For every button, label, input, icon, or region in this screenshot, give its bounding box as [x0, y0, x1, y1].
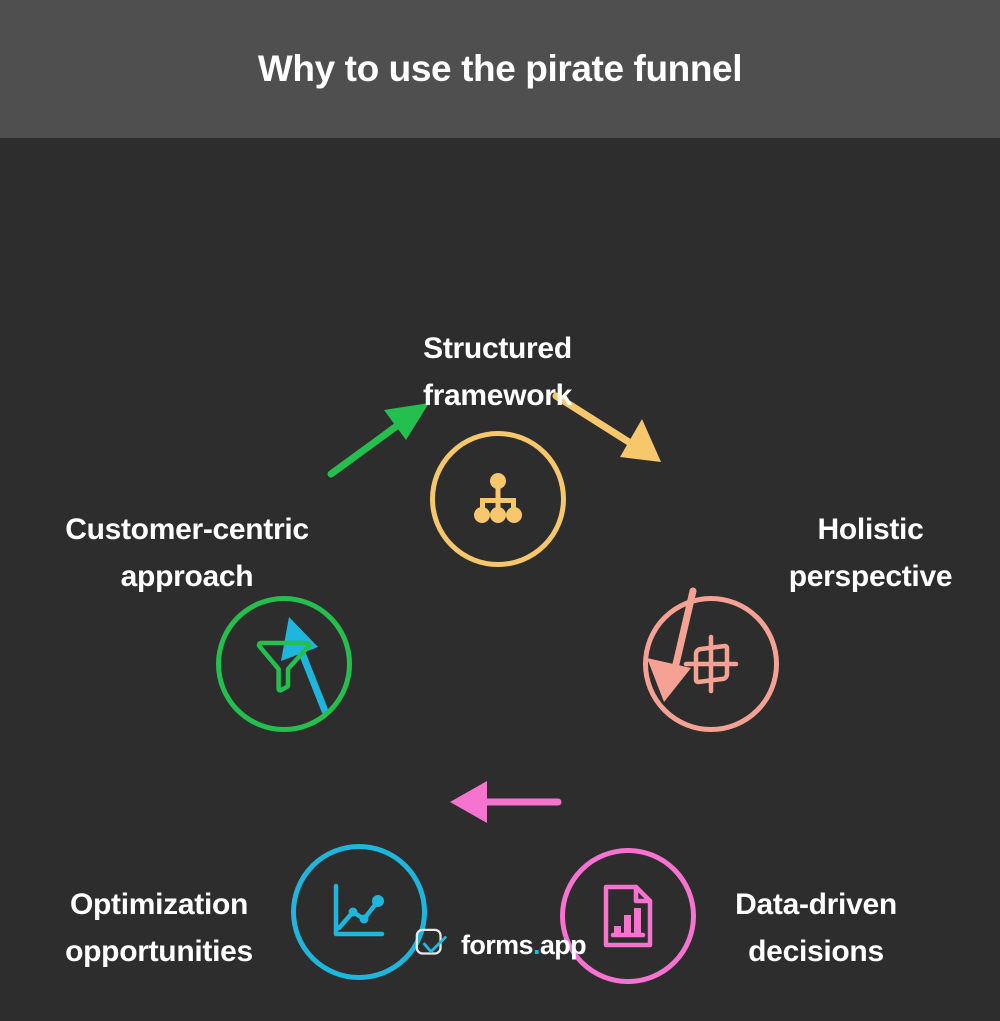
node-label-holistic-perspective: Holistic perspective	[748, 507, 993, 600]
brand-wordmark: forms.app	[461, 932, 586, 959]
node-holistic-perspective[interactable]	[643, 596, 779, 732]
arrow-datadriven-to-optimization	[450, 781, 558, 823]
node-label-customer-centric-approach: Customer-centric approach	[18, 507, 356, 600]
cycle-diagram: Structured framework Holistic perspectiv…	[0, 138, 1000, 1021]
node-label-structured-framework: Structured framework	[330, 326, 665, 419]
brand-footer: forms.app	[0, 915, 1000, 975]
crop-grid-icon	[678, 631, 744, 697]
node-structured-framework[interactable]	[430, 431, 566, 567]
brand-name: forms	[461, 930, 533, 960]
hierarchy-icon	[467, 468, 529, 530]
header-band: Why to use the pirate funnel	[0, 0, 1000, 138]
node-customer-centric-approach[interactable]	[216, 596, 352, 732]
page-title: Why to use the pirate funnel	[258, 47, 742, 91]
forms-app-logo-icon	[414, 927, 450, 963]
brand-suffix: app	[540, 930, 586, 960]
brand-dot: .	[533, 930, 540, 960]
infographic-page: Why to use the pirate funnel	[0, 0, 1000, 1021]
funnel-icon	[255, 635, 313, 693]
